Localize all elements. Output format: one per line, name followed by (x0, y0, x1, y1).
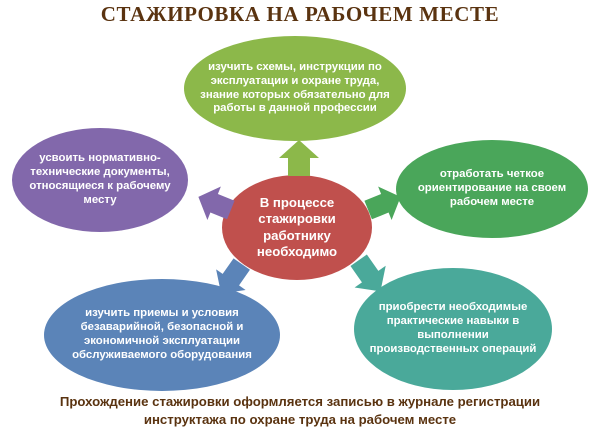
node-normative-documents: усвоить нормативно-технические документы… (12, 128, 188, 232)
node-label-top-green: изучить схемы, инструкции по эксплуатаци… (184, 61, 406, 117)
arrow-left-icon (195, 183, 237, 230)
node-label-left-purple: усвоить нормативно-технические документы… (12, 152, 188, 208)
node-label-center: В процессе стажировки работнику необходи… (222, 195, 372, 259)
node-study-schemes: изучить схемы, инструкции по эксплуатаци… (184, 36, 406, 141)
node-label-bottom-left-blue: изучить приемы и условия безаварийной, б… (44, 307, 280, 363)
node-label-right-green: отработать четкое ориентирование на свое… (396, 168, 588, 210)
footer-caption: Прохождение стажировки оформляется запис… (0, 393, 600, 429)
page-title: СТАЖИРОВКА НА РАБОЧЕМ МЕСТЕ (0, 2, 600, 27)
node-workplace-orientation: отработать четкое ориентирование на свое… (396, 140, 588, 238)
arrow-down-left-icon (210, 256, 254, 305)
arrow-down-right-icon (346, 252, 392, 303)
caption-line-2: инструктажа по охране труда на рабочем м… (0, 411, 600, 429)
arrow-right-icon (362, 183, 404, 230)
arrow-up-icon (277, 138, 321, 183)
caption-line-1: Прохождение стажировки оформляется запис… (0, 393, 600, 411)
node-label-bottom-right-teal: приобрести необходимые практические навы… (354, 301, 552, 357)
diagram-canvas: СТАЖИРОВКА НА РАБОЧЕМ МЕСТЕ изучить схем… (0, 0, 600, 437)
